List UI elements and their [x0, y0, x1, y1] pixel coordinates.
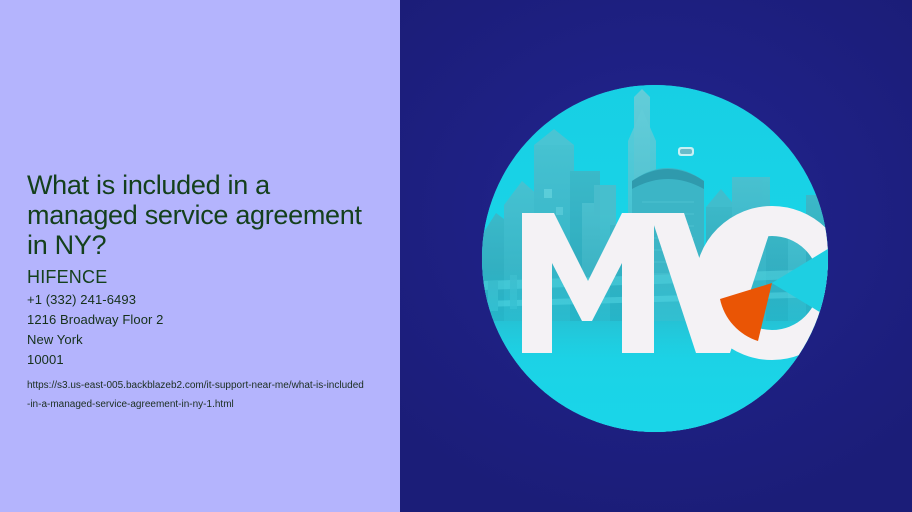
source-url-link[interactable]: https://s3.us-east-005.backblazeb2.com/i… — [27, 376, 367, 414]
left-text-panel: What is included in a managed service ag… — [0, 0, 400, 512]
logo-artwork — [482, 85, 828, 432]
phone-number: +1 (332) 241-6493 — [27, 290, 377, 310]
right-logo-panel — [400, 0, 912, 512]
street-address: 1216 Broadway Floor 2 — [27, 310, 377, 330]
logo-container — [482, 85, 828, 432]
text-block: What is included in a managed service ag… — [27, 170, 377, 414]
slide-canvas: What is included in a managed service ag… — [0, 0, 912, 512]
organization-name: HIFENCE — [27, 266, 377, 288]
postal-code: 10001 — [27, 350, 377, 370]
city-name: New York — [27, 330, 377, 350]
logo-circle — [482, 85, 828, 432]
page-title: What is included in a managed service ag… — [27, 170, 377, 260]
